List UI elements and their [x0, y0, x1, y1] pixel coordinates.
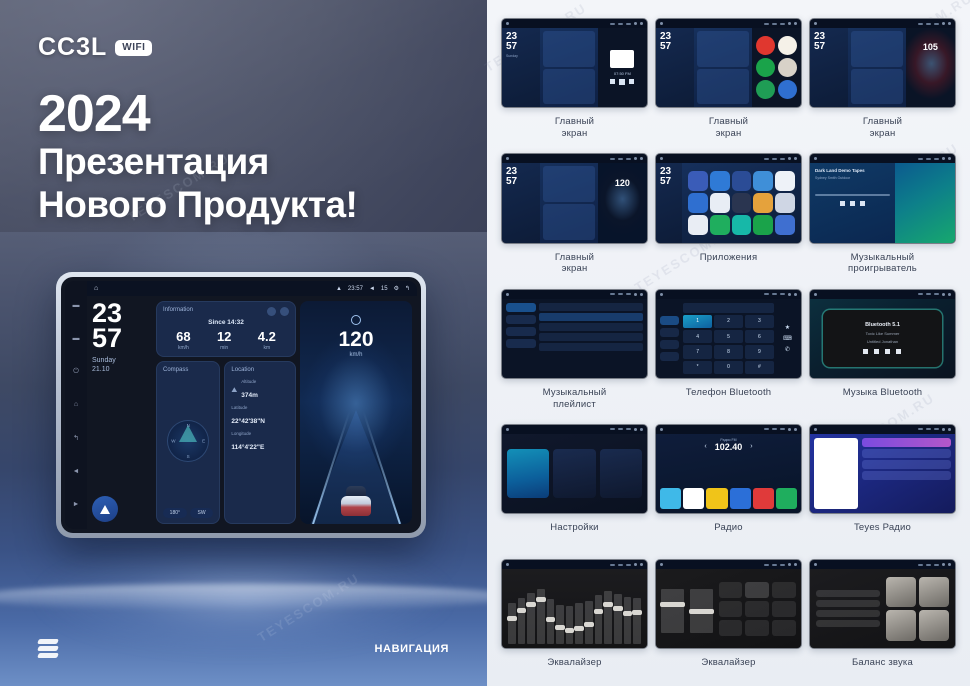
hero-footer: НАВИГАЦИЯ [0, 639, 487, 658]
thumb-clock-mm: 57 [660, 42, 690, 52]
call-icon[interactable]: ✆ [785, 346, 790, 353]
dial-key[interactable]: 2 [714, 315, 743, 328]
thumb-status-bar [656, 560, 801, 569]
speed-readout: 120 km/h [300, 315, 412, 358]
thumbnail-caption: Эквалайзер [701, 657, 755, 681]
dial-display [683, 303, 774, 313]
stat-unit: min [217, 345, 231, 351]
thumb-status-bar [810, 560, 955, 569]
gallery-item[interactable]: 23 57 [655, 153, 802, 288]
product-logo: CC3L WIFI [38, 33, 152, 62]
thumb-clock-mm: 57 [660, 177, 678, 187]
gallery-item[interactable]: Настройки [501, 424, 648, 559]
thumbnail-caption: Радио [714, 522, 742, 546]
speed-value: 120 [300, 329, 412, 350]
car-3d-model [341, 486, 371, 516]
compass-direction: SW [190, 508, 214, 518]
thumb-clock: 23 57 [502, 163, 540, 242]
gallery-item[interactable]: Радио FM ‹ 102.40 › [655, 424, 802, 559]
clock-minutes: 57 [92, 326, 152, 351]
navigation-button[interactable] [92, 496, 118, 522]
thumb-visualizer [895, 163, 955, 242]
power-icon[interactable]: ⏻ [73, 368, 79, 375]
thumb-media-panel: 07:50 FM [598, 28, 647, 107]
stat-value: 12 [217, 330, 231, 343]
eq-band[interactable] [508, 603, 516, 644]
thumbnail-home-apps[interactable]: 23 57 [655, 18, 802, 108]
radio-frequency: 102.40 [715, 442, 743, 452]
thumbnail-caption: Главный экран [555, 252, 594, 276]
status-bar-right: ▲ 23:57 ◄ 15 ⚙ ↰ [336, 285, 410, 292]
volume-up-icon[interactable]: ► [73, 501, 80, 508]
thumbnail-balance[interactable] [809, 559, 956, 649]
compass-points: N S W E [168, 421, 208, 461]
head-unit-screen[interactable]: ⌂ ▲ 23:57 ◄ 15 ⚙ ↰ 23 [87, 281, 417, 529]
eq-band[interactable] [527, 593, 535, 645]
thumb-status-bar [502, 154, 647, 163]
latitude-label: Latitude [231, 405, 289, 410]
speaker-front-left[interactable] [886, 577, 916, 607]
longitude-row: Longitude 114°4'22"E [231, 431, 289, 454]
thumbnail-equalizer[interactable] [501, 559, 648, 649]
wifi-badge: WIFI [115, 40, 152, 56]
thumb-status-bar [502, 560, 647, 569]
presentation-slide: TEYESCOM.RU TEYESCOM.RU CC3L WIFI 2024 П… [0, 0, 970, 686]
dial-key[interactable]: 4 [683, 330, 712, 343]
dash-lip [0, 584, 487, 610]
station-list[interactable] [862, 438, 951, 509]
settings-tile-more[interactable] [600, 449, 642, 498]
driving-widget[interactable]: 120 km/h [300, 301, 412, 524]
thumb-scene[interactable] [502, 569, 647, 648]
gallery-item[interactable]: 23 57 Sunday 07:50 FM Главный экран [501, 18, 648, 153]
thumbnail-caption: Телефон Bluetooth [686, 387, 772, 411]
next-station-icon[interactable]: › [750, 443, 752, 450]
compass-card[interactable]: Compass N S W E [156, 361, 220, 524]
thumbnail-teyes-radio[interactable] [809, 424, 956, 514]
bt-card: Bluetooth 5.1 Toxic Like Summer Untitled… [823, 310, 942, 367]
eq-band[interactable] [614, 594, 622, 644]
balance-options[interactable] [816, 575, 880, 642]
thumbnail-caption: Эквалайзер [547, 657, 601, 681]
thumb-status-bar [656, 19, 801, 28]
compass-dial: N S W E [163, 376, 213, 505]
hero-title-line-1: Презентация [38, 141, 458, 184]
phone-actions[interactable]: ★ ⌨ ✆ [778, 303, 797, 374]
thumb-scene: 23 57 [656, 28, 801, 107]
thumbnail-caption: Музыкальный плейлист [543, 387, 607, 411]
layers-icon [38, 639, 58, 658]
thumbnail-settings[interactable] [501, 424, 648, 514]
thumb-status-bar [502, 290, 647, 299]
prev-station-icon[interactable]: ‹ [704, 443, 706, 450]
thumb-widgets [848, 28, 906, 107]
information-title: Information [163, 307, 193, 313]
dial-key[interactable]: 9 [745, 345, 774, 358]
prev-icon[interactable] [840, 201, 845, 206]
thumb-scene: Dark Land Demo Tapes Sydney Smith Outdoo… [810, 163, 955, 242]
stat-unit: km [258, 345, 276, 351]
home-screen-body: 23 57 Sunday 21.10 Information [87, 296, 417, 529]
dialer[interactable]: 1 2 3 4 5 6 7 8 9 * 0 # [683, 303, 774, 374]
next-icon[interactable] [860, 201, 865, 206]
stat-unit: km/h [176, 345, 190, 351]
eq-band[interactable] [556, 605, 564, 645]
radio-presets[interactable] [660, 488, 797, 509]
bt-track: Toxic Like Summer [866, 331, 900, 336]
lower-widgets: Compass N S W E [156, 361, 296, 524]
stat-value: 68 [176, 330, 190, 343]
location-card[interactable]: Location ⛰ Altitude 374m [224, 361, 296, 524]
thumb-clock: 23 57 [656, 163, 682, 242]
prev-icon[interactable] [863, 349, 868, 354]
eq-sliders[interactable] [661, 585, 713, 634]
gallery-item[interactable]: Эквалайзер [655, 559, 802, 686]
longitude-value: 114°4'22"E [231, 444, 264, 451]
hero-title-line-2: Нового Продукта! [38, 184, 458, 227]
location-title: Location [231, 367, 289, 373]
head-unit-bezel: ▬ ▬ ⏻ ⌂ ↰ ◄ ► ⌂ ▲ 23:57 ◄ 15 [61, 277, 421, 533]
navigation-arrow-icon [100, 505, 110, 514]
thumb-speed: 120 [598, 178, 647, 188]
dial-key[interactable]: 5 [714, 330, 743, 343]
thumb-scene [502, 434, 647, 513]
thumb-app-grid [682, 163, 801, 242]
thumbnail-home-drive2[interactable]: 23 57 120 [501, 153, 648, 243]
thumb-scene: Bluetooth 5.1 Toxic Like Summer Untitled… [810, 299, 955, 378]
back-icon[interactable]: ↰ [73, 435, 79, 442]
thumb-status-bar [810, 425, 955, 434]
speaker-rear-left[interactable] [886, 610, 916, 640]
compass-title: Compass [163, 367, 213, 373]
dial-key[interactable]: # [745, 361, 774, 374]
thumb-scene: 23 57 105 [810, 28, 955, 107]
thumb-scene: 23 57 120 [502, 163, 647, 242]
compass-readout: 180° SW [163, 508, 213, 518]
keypad-icon[interactable]: ⌨ [783, 335, 792, 342]
volume-value: 15 [381, 286, 388, 292]
speaker-layout[interactable] [886, 575, 950, 642]
clock-date: 21.10 [92, 365, 152, 375]
volume-down-icon[interactable]: ◄ [73, 468, 80, 475]
screenshot-gallery: TEYESCOM.RU TEYESCOM.RU TEYESCOM.RU TEYE… [487, 0, 970, 686]
settings-tile-wifi[interactable] [507, 449, 549, 498]
thumb-clock-mm: 57 [506, 42, 536, 52]
mountain-icon: ⛰ [231, 387, 237, 395]
thumb-scene: 1 2 3 4 5 6 7 8 9 * 0 # [656, 299, 801, 378]
thumb-scene: Радио FM ‹ 102.40 › [656, 434, 801, 513]
thumb-status-bar [656, 425, 801, 434]
gallery-item[interactable]: Bluetooth 5.1 Toxic Like Summer Untitled… [809, 289, 956, 424]
logo-text: CC3L [38, 33, 107, 62]
thumbnail-apps[interactable]: 23 57 [655, 153, 802, 243]
thumb-scene: 23 57 [656, 163, 801, 242]
thumb-widgets [694, 28, 752, 107]
eq-band[interactable] [633, 598, 641, 644]
home-icon[interactable]: ⌂ [74, 401, 78, 408]
dial-key[interactable]: * [683, 361, 712, 374]
latitude-row: Latitude 22°42'38"N [231, 405, 289, 428]
rail-button-eq[interactable]: ▬ [73, 335, 80, 342]
phone-sidebar[interactable] [660, 303, 679, 374]
home-indicator-icon[interactable]: ⌂ [94, 285, 98, 292]
dial-key[interactable]: 6 [745, 330, 774, 343]
thumbnail-caption: Главный экран [555, 116, 594, 140]
thumb-clock: 23 57 [810, 28, 848, 107]
gear-icon[interactable]: ⚙ [394, 285, 399, 292]
volume-icon: ◄ [369, 286, 375, 292]
thumbnail-caption: Teyes Радио [854, 522, 911, 546]
thumbnail-caption: Приложения [700, 252, 758, 276]
bt-controls[interactable] [863, 349, 901, 354]
track-title: Dark Land Demo Tapes [815, 168, 890, 173]
thumbnail-bt-music[interactable]: Bluetooth 5.1 Toxic Like Summer Untitled… [809, 289, 956, 379]
navigation-label: НАВИГАЦИЯ [375, 643, 449, 655]
longitude-label: Longitude [231, 431, 289, 436]
play-pause-icon[interactable] [874, 349, 879, 354]
status-time: 23:57 [348, 286, 363, 292]
hardware-button-rail[interactable]: ▬ ▬ ⏻ ⌂ ↰ ◄ ► [65, 281, 87, 529]
dial-key[interactable]: 0 [714, 361, 743, 374]
compass-west: W [171, 438, 175, 443]
information-refresh-icon[interactable] [267, 307, 276, 316]
bt-version: Bluetooth 5.1 [865, 322, 900, 328]
thumb-status-bar [810, 154, 955, 163]
gallery-item[interactable]: 23 57 105 Главный экран [809, 18, 956, 153]
thumbnail-caption: Музыка Bluetooth [843, 387, 923, 411]
thumb-scene [656, 569, 801, 648]
thumb-speed: 105 [906, 42, 955, 52]
eq-band[interactable] [595, 595, 603, 644]
head-unit-device: ▬ ▬ ⏻ ⌂ ↰ ◄ ► ⌂ ▲ 23:57 ◄ 15 [56, 272, 426, 538]
speed-unit: km/h [300, 352, 412, 358]
speaker-rear-right[interactable] [919, 610, 949, 640]
thumbnail-caption: Главный экран [709, 116, 748, 140]
eq-band[interactable] [575, 603, 583, 644]
status-bar: ⌂ ▲ 23:57 ◄ 15 ⚙ ↰ [87, 281, 417, 296]
thumb-weekday: Sunday [506, 54, 536, 58]
eq-band[interactable] [604, 591, 612, 644]
gallery-grid: 23 57 Sunday 07:50 FM Главный экран [501, 18, 956, 686]
next-icon[interactable] [896, 349, 901, 354]
thumbnail-equalizer2[interactable] [655, 559, 802, 649]
stop-icon[interactable] [885, 349, 890, 354]
speaker-front-right[interactable] [919, 577, 949, 607]
gallery-item[interactable]: Эквалайзер [501, 559, 648, 686]
thumb-status-bar [656, 290, 801, 299]
thumb-scene [502, 299, 647, 378]
compass-north: N [187, 423, 190, 428]
thumb-clock-mm: 57 [506, 177, 536, 187]
gallery-item[interactable]: 1 2 3 4 5 6 7 8 9 * 0 # [655, 289, 802, 424]
latitude-value: 22°42'38"N [231, 418, 265, 425]
thumbnail-caption: Настройки [550, 522, 598, 546]
gallery-item[interactable]: Баланс звука [809, 559, 956, 686]
eq-band[interactable] [537, 589, 545, 645]
thumb-status-bar [502, 19, 647, 28]
stat-duration: 12 min [217, 330, 231, 351]
track-artist: Sydney Smith Outdoor [815, 176, 890, 180]
thumb-status-bar [810, 19, 955, 28]
thumbnail-home-drive[interactable]: 23 57 105 [809, 18, 956, 108]
compass-ring: N S W E [167, 420, 209, 462]
thumbnail-caption: Главный экран [863, 116, 902, 140]
wifi-icon: ▲ [336, 286, 342, 292]
thumb-clock: 23 57 Sunday [502, 28, 540, 107]
thumb-status-bar [502, 425, 647, 434]
thumbnail-bt-phone[interactable]: 1 2 3 4 5 6 7 8 9 * 0 # [655, 289, 802, 379]
thumb-scene [810, 569, 955, 648]
since-label: Since 14:32 [163, 319, 289, 326]
eq-band[interactable] [585, 601, 593, 645]
compass-east: E [202, 438, 205, 443]
settings-tile-carplay[interactable] [553, 449, 595, 498]
stat-distance: 4.2 km [258, 330, 276, 351]
gallery-item[interactable]: 23 57 Главный эк [655, 18, 802, 153]
widgets-column: Information Since 14:32 68 [156, 301, 296, 524]
star-icon[interactable]: ★ [785, 324, 790, 331]
album-art [814, 438, 858, 509]
thumb-status-bar [810, 290, 955, 299]
hero-title-block: 2024 Презентация Нового Продукта! [38, 88, 458, 227]
gallery-item[interactable]: Dark Land Demo Tapes Sydney Smith Outdoo… [809, 153, 956, 288]
thumb-app-drawer [752, 28, 801, 107]
pause-icon[interactable] [850, 201, 855, 206]
dial-key[interactable]: 1 [683, 315, 712, 328]
information-card[interactable]: Information Since 14:32 68 [156, 301, 296, 357]
information-reset-icon[interactable] [280, 307, 289, 316]
dial-key[interactable]: 3 [745, 315, 774, 328]
altitude-row: ⛰ Altitude 374m [231, 379, 289, 402]
bt-artist: Untitled Jonathan [867, 339, 898, 344]
dial-pad[interactable]: 1 2 3 4 5 6 7 8 9 * 0 # [683, 315, 774, 374]
eq-band[interactable] [566, 606, 574, 644]
thumb-clock-mm: 57 [814, 42, 844, 52]
thumb-status-bar [656, 154, 801, 163]
thumbnail-playlist[interactable] [501, 289, 648, 379]
car-body [341, 496, 371, 516]
clock-widget[interactable]: 23 57 Sunday 21.10 [92, 301, 152, 524]
thumbnail-caption: Баланс звука [852, 657, 913, 681]
dial-key[interactable]: 7 [683, 345, 712, 358]
hero-year: 2024 [38, 88, 458, 141]
compass-heading: 180° [163, 508, 187, 518]
eq-band[interactable] [624, 597, 632, 645]
information-card-header: Information [163, 307, 289, 316]
eq-band[interactable] [518, 598, 526, 644]
thumb-drive-panel: 120 [598, 163, 647, 242]
altitude-label: Altitude [241, 379, 258, 384]
trip-stats: 68 km/h 12 min 4.2 km [163, 330, 289, 351]
dial-key[interactable]: 8 [714, 345, 743, 358]
clock-weekday: Sunday [92, 356, 152, 366]
altitude-value: 374m [241, 392, 258, 399]
back-icon[interactable]: ↰ [405, 285, 410, 292]
thumb-drive-panel: 105 [906, 28, 955, 107]
gallery-item[interactable]: Teyes Радио [809, 424, 956, 559]
hero-panel: TEYESCOM.RU TEYESCOM.RU CC3L WIFI 2024 П… [0, 0, 487, 686]
gallery-item[interactable]: Музыкальный плейлист [501, 289, 648, 424]
thumb-track-info: Dark Land Demo Tapes Sydney Smith Outdoo… [810, 163, 895, 242]
compass-south: S [187, 454, 190, 459]
car-roof [346, 486, 366, 496]
thumbnail-caption: Музыкальный проигрыватель [848, 252, 917, 276]
thumb-scene: 23 57 Sunday 07:50 FM [502, 28, 647, 107]
thumb-scene [810, 434, 955, 513]
gallery-item[interactable]: 23 57 120 Главный экран [501, 153, 648, 288]
eq-presets[interactable] [719, 582, 796, 636]
thumbnail-music-player[interactable]: Dark Land Demo Tapes Sydney Smith Outdoo… [809, 153, 956, 243]
speed-gauge-icon [351, 315, 361, 325]
thumb-clock: 23 57 [656, 28, 694, 107]
stat-value: 4.2 [258, 330, 276, 343]
thumb-widgets [540, 28, 598, 107]
playlist-sidebar[interactable] [506, 303, 536, 374]
thumbnail-radio[interactable]: Радио FM ‹ 102.40 › [655, 424, 802, 514]
thumb-widgets [540, 163, 598, 242]
eq-band[interactable] [547, 599, 555, 644]
playlist-rows[interactable] [539, 303, 643, 374]
stat-speed: 68 km/h [176, 330, 190, 351]
thumbnail-home-media[interactable]: 23 57 Sunday 07:50 FM [501, 18, 648, 108]
rail-button-mic[interactable]: ▬ [73, 302, 80, 309]
